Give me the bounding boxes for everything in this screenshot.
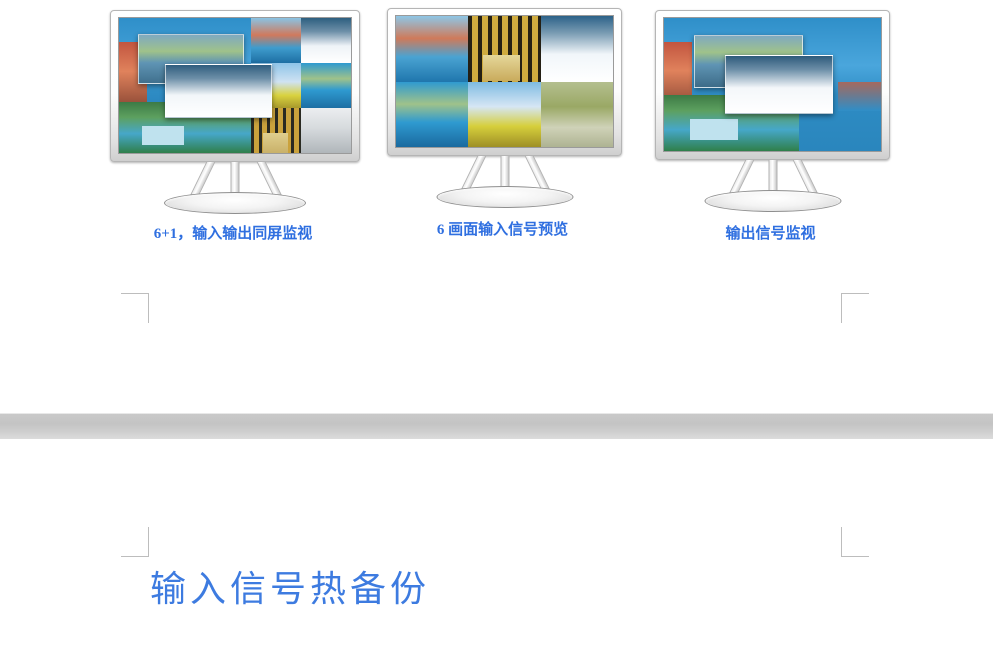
stand-base <box>436 186 573 208</box>
screen-tile-snow-hikers-mountain <box>541 16 613 82</box>
monitor-bezel <box>110 10 360 162</box>
stand-leg-left <box>729 160 755 194</box>
monitor-device <box>655 10 890 210</box>
monitor-stand <box>110 162 360 212</box>
screen-tile-aerial-peninsula-bay <box>396 82 468 148</box>
figure-monitor-multiview: 6+1，输入输出同屏监视 <box>110 10 360 212</box>
monitor-stand <box>387 156 622 206</box>
figure-caption-6-preview: 6 画面输入信号预览 <box>385 218 620 239</box>
document-page: 6+1，输入输出同屏监视 <box>0 0 993 662</box>
stand-neck <box>500 156 509 190</box>
screen-tile-aerial-peninsula-bay <box>301 63 351 108</box>
page-section-lower: 输入信号热备份 <box>0 439 993 662</box>
monitor-stand <box>655 160 890 210</box>
monitor-device <box>110 10 360 212</box>
margin-mark-bottom-right <box>841 527 869 557</box>
margin-mark-top-left <box>121 293 149 323</box>
monitor-screen <box>395 15 614 148</box>
pip-snow-hikers <box>165 64 272 118</box>
stand-leg-right <box>257 162 283 196</box>
stand-neck <box>231 162 240 196</box>
stand-neck <box>768 160 777 194</box>
screen-tile-city-skyline-bay <box>251 18 301 63</box>
stand-base <box>164 192 306 214</box>
monitor-bezel <box>387 8 622 156</box>
figure-caption-multiview: 6+1，输入输出同屏监视 <box>108 222 358 243</box>
screen-tile-winter-snow-field <box>301 108 351 153</box>
stand-leg-left <box>461 156 487 190</box>
margin-mark-top-right <box>841 293 869 323</box>
figure-monitor-output: 输出信号监视 <box>655 10 890 210</box>
screen-tile-birch-path-ground <box>263 133 289 153</box>
screen-tile-birch-path-ground <box>483 55 520 81</box>
stand-leg-left <box>190 162 216 196</box>
monitor-screen <box>663 17 882 152</box>
figure-caption-output: 输出信号监视 <box>653 222 888 243</box>
screen-tile-pool-white <box>690 119 738 140</box>
screen-tile-pool-white <box>142 126 184 145</box>
screen-tile-hikers-dirt-road <box>541 82 613 148</box>
monitor-bezel <box>655 10 890 160</box>
figure-monitor-6-preview: 6 画面输入信号预览 <box>387 8 622 206</box>
monitor-screen <box>118 17 352 154</box>
stand-leg-right <box>793 160 819 194</box>
screen-tile-city-skyline-bay <box>396 16 468 82</box>
margin-mark-bottom-left <box>121 527 149 557</box>
stand-base <box>704 190 841 212</box>
pip-snow-hikers <box>725 55 834 114</box>
screen-tile-snow-hikers-mountain <box>301 18 351 63</box>
page-section-upper: 6+1，输入输出同屏监视 <box>0 0 993 412</box>
screen-tile-clouds-yellow-field <box>468 82 540 148</box>
stand-leg-right <box>525 156 551 190</box>
page-break-separator <box>0 413 993 440</box>
screen-tile-right-shore <box>838 82 881 111</box>
page-heading: 输入信号热备份 <box>150 560 430 612</box>
monitor-device <box>387 8 622 206</box>
